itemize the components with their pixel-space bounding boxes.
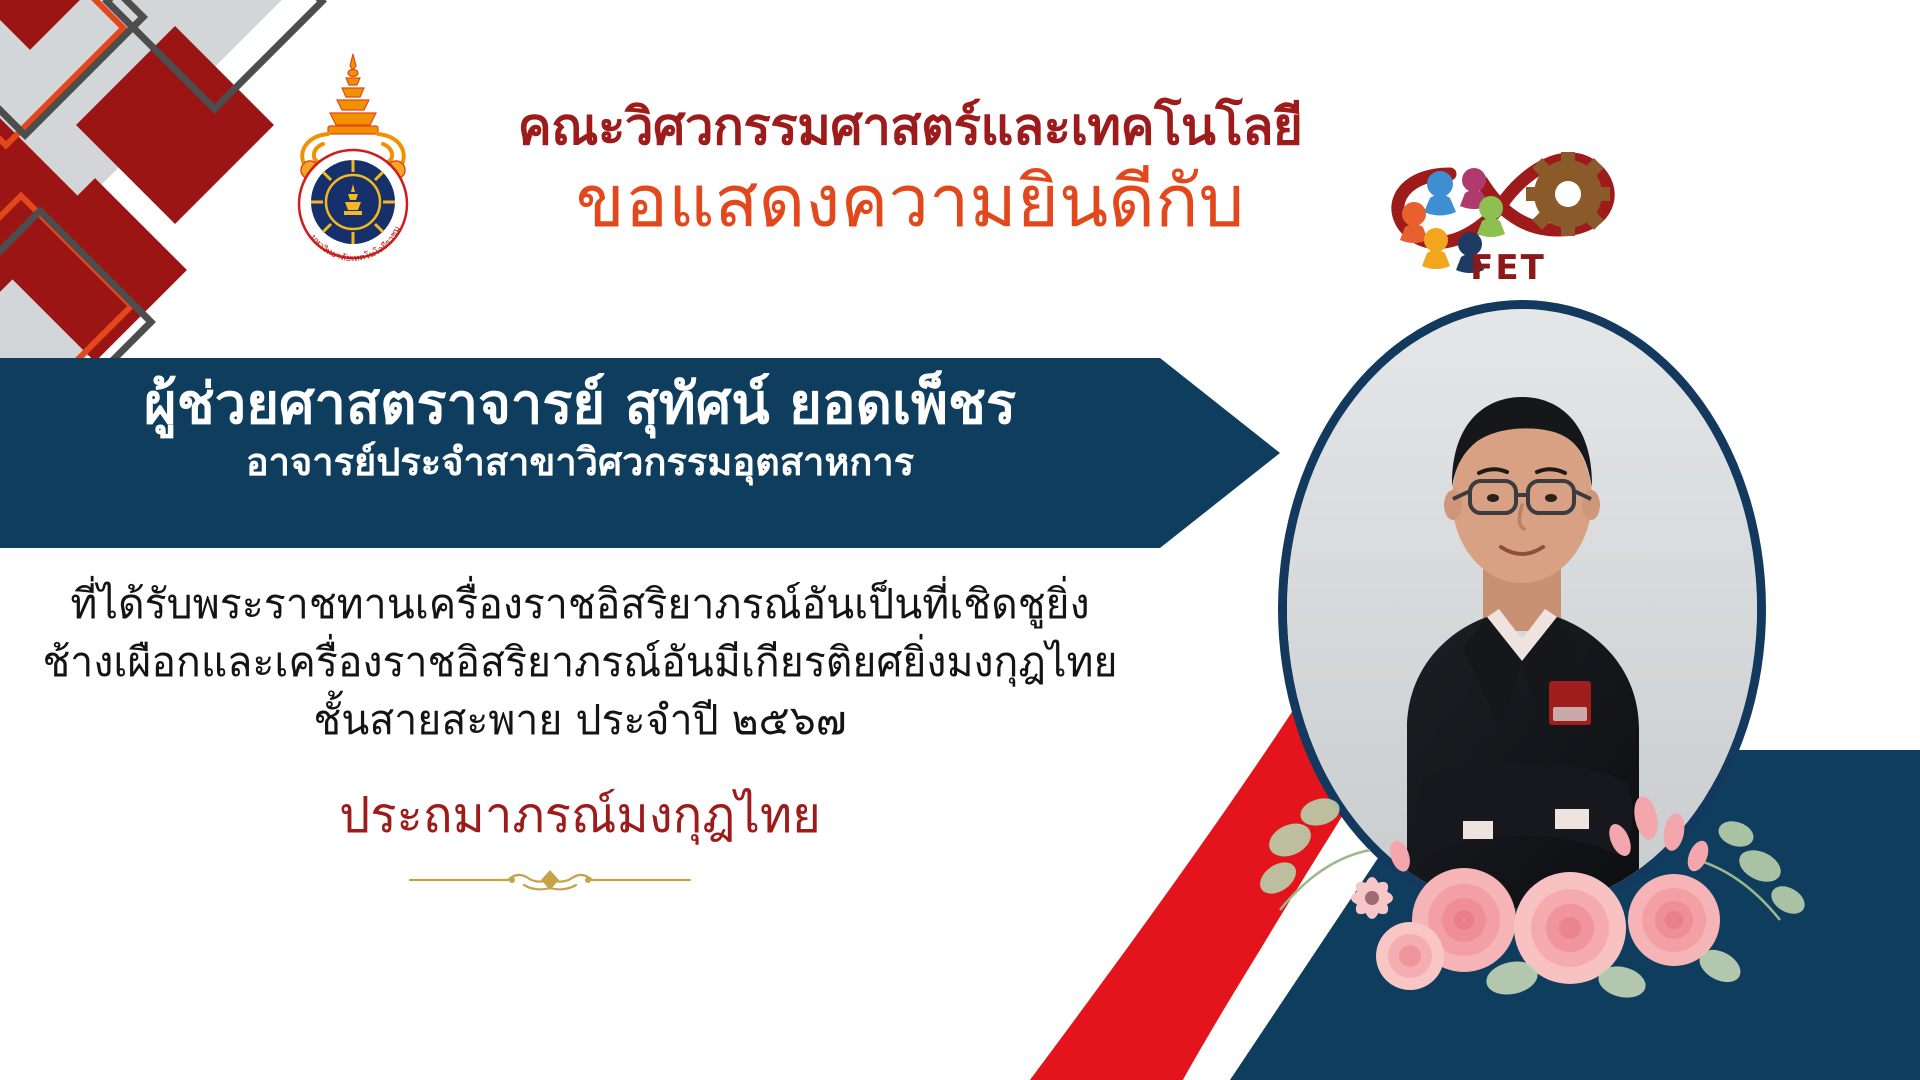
decor-square-red [0,113,87,297]
rose-flower [1376,922,1444,990]
portrait-photo [1278,300,1766,918]
body-line-2: ช้างเผือกและเครื่องราชอิสริยาภรณ์อันมีเก… [20,633,1140,691]
decor-square-grey [0,0,121,111]
decor-square-grey [0,49,131,261]
honoree-role: อาจารย์ประจำสาขาวิศวกรรมอุตสาหการ [0,440,1160,486]
decor-outline-orange [0,191,136,380]
university-seal: มหาวิทยาลัยเทคโนโลยีราชมงคล [268,52,438,267]
congrats-title: ขอแสดงความยินดีกับ [460,161,1360,242]
body-line-1: ที่ได้รับพระราชทานเครื่องราชอิสริยาภรณ์อ… [20,575,1140,633]
body-line-3: ชั้นสายสะพาย ประจำปี ๒๕๖๗ [20,691,1140,749]
decor-outline-grey [0,0,148,140]
congratulations-banner: มหาวิทยาลัยเทคโนโลยีราชมงคล คณะวิศวกรรมศ… [0,0,1920,1080]
chest-badge [1549,681,1591,725]
decor-square-red [76,26,274,224]
decor-outline-orange [0,0,128,150]
honoree-name: ผู้ช่วยศาสตราจารย์ สุทัศน์ ยอดเพ็ชร [0,372,1160,438]
gold-ornament-divider [400,862,700,898]
award-name: ประถมาภรณ์มงกุฎไทย [20,776,1140,854]
faculty-name: คณะวิศวกรรมศาสตร์และเทคโนโลยี [460,100,1360,155]
decor-outline-grey [0,206,156,380]
header-text-block: คณะวิศวกรรมศาสตร์และเทคโนโลยี ขอแสดงความ… [460,100,1360,242]
decor-square-red [0,0,115,50]
decor-square-grey [0,216,129,380]
fet-logo-label: FET [1378,248,1638,288]
decor-square-red [3,178,187,362]
body-text-block: ที่ได้รับพระราชทานเครื่องราชอิสริยาภรณ์อ… [20,575,1140,854]
gear-icon [1526,152,1610,236]
name-ribbon-text: ผู้ช่วยศาสตราจารย์ สุทัศน์ ยอดเพ็ชร อาจา… [0,372,1160,486]
decor-square-grey [0,0,211,171]
